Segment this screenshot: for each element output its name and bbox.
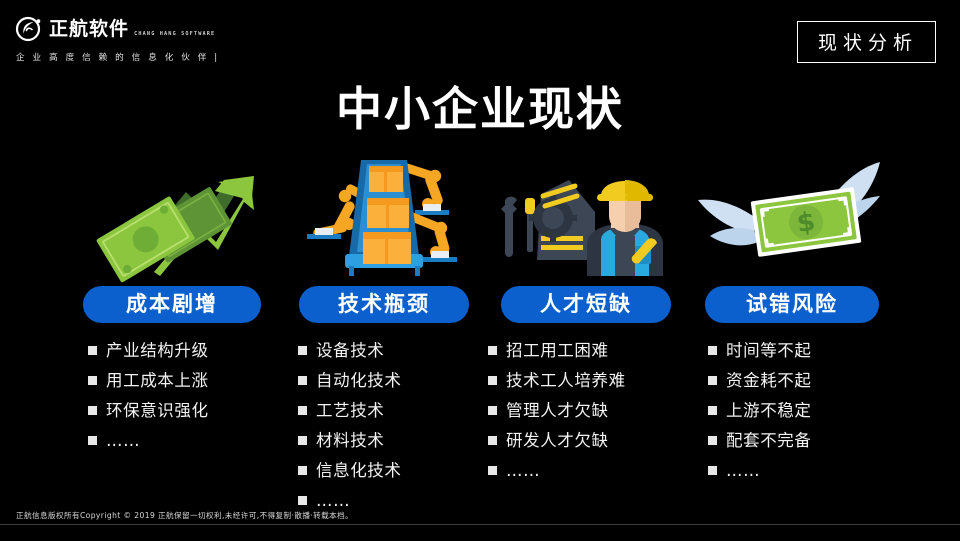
bullet-square-icon (88, 436, 97, 445)
list-item: 材料技术 (298, 429, 490, 453)
page-title: 中小企业现状 (0, 84, 960, 135)
list-item: 自动化技术 (298, 369, 490, 393)
bullet-square-icon (708, 406, 717, 415)
topic-pill-technology[interactable]: 技术瓶颈 (299, 286, 469, 323)
list-item: 用工成本上涨 (88, 369, 278, 393)
worker-tools-gear-icon (480, 160, 692, 276)
list-item: …… (488, 459, 692, 483)
list-item: 配套不完备 (708, 429, 898, 453)
money-growth-arrow-icon (66, 160, 278, 276)
bullet-square-icon (298, 346, 307, 355)
bullet-square-icon (488, 346, 497, 355)
brand-name-en: CHANG HANG SOFTWARE (134, 31, 215, 37)
footer-copyright: 正航信息版权所有Copyright © 2019 正航保留一切权利,未经许可,不… (16, 510, 353, 521)
list-item: 招工用工困难 (488, 339, 692, 363)
list-item: 设备技术 (298, 339, 490, 363)
chang-hang-c-mark-icon (16, 16, 42, 42)
bullet-list-technology: 设备技术 自动化技术 工艺技术 材料技术 信息化技术 …… (278, 339, 490, 513)
brand-logo: 正航软件 CHANG HANG SOFTWARE 企 业 高 度 信 赖 的 信… (16, 16, 216, 63)
list-item: 信息化技术 (298, 459, 490, 483)
section-badge-label: 现状分析 (815, 28, 918, 55)
topic-column-talent: 人才短缺 招工用工困难 技术工人培养难 管理人才欠缺 研发人才欠缺 …… (480, 160, 692, 489)
bullet-list-risk: 时间等不起 资金耗不起 上游不稳定 配套不完备 …… (686, 339, 898, 483)
topic-column-cost: 成本剧增 产业结构升级 用工成本上涨 环保意识强化 …… (66, 160, 278, 459)
bullet-square-icon (88, 406, 97, 415)
bullet-square-icon (88, 376, 97, 385)
bullet-list-cost: 产业结构升级 用工成本上涨 环保意识强化 …… (66, 339, 278, 453)
topic-pill-talent[interactable]: 人才短缺 (501, 286, 671, 323)
topic-columns: 成本剧增 产业结构升级 用工成本上涨 环保意识强化 …… (0, 160, 960, 500)
topic-pill-cost[interactable]: 成本剧增 (83, 286, 261, 323)
bullet-square-icon (298, 376, 307, 385)
list-item: …… (298, 489, 490, 513)
list-item: …… (88, 429, 278, 453)
topic-column-risk: $ 试错风险 时间等不起 资金耗不起 上游不稳定 配套不完备 …… (686, 160, 898, 489)
bullet-square-icon (488, 406, 497, 415)
bullet-square-icon (298, 496, 307, 505)
bullet-square-icon (708, 436, 717, 445)
bullet-square-icon (298, 466, 307, 475)
topic-column-technology: 技术瓶颈 设备技术 自动化技术 工艺技术 材料技术 信息化技术 …… (278, 160, 490, 519)
list-item: 研发人才欠缺 (488, 429, 692, 453)
section-badge: 现状分析 (797, 21, 936, 63)
bullet-list-talent: 招工用工困难 技术工人培养难 管理人才欠缺 研发人才欠缺 …… (480, 339, 692, 483)
topic-pill-risk[interactable]: 试错风险 (705, 286, 879, 323)
bullet-square-icon (88, 346, 97, 355)
list-item: 工艺技术 (298, 399, 490, 423)
brand-name: 正航软件 (49, 18, 129, 40)
bullet-square-icon (488, 466, 497, 475)
slide-canvas: 正航软件 CHANG HANG SOFTWARE 企 业 高 度 信 赖 的 信… (0, 0, 960, 541)
winged-dollar-bill-icon: $ (686, 160, 898, 276)
bullet-square-icon (708, 466, 717, 475)
bullet-square-icon (708, 376, 717, 385)
bullet-square-icon (488, 436, 497, 445)
list-item: 产业结构升级 (88, 339, 278, 363)
list-item: 管理人才欠缺 (488, 399, 692, 423)
bullet-square-icon (488, 376, 497, 385)
list-item: 上游不稳定 (708, 399, 898, 423)
conveyor-robot-arm-icon (278, 160, 490, 276)
list-item: 时间等不起 (708, 339, 898, 363)
list-item: 资金耗不起 (708, 369, 898, 393)
list-item: 技术工人培养难 (488, 369, 692, 393)
brand-tagline: 企 业 高 度 信 赖 的 信 息 化 伙 伴 | (16, 51, 216, 63)
footer-divider (0, 524, 960, 525)
bullet-square-icon (298, 406, 307, 415)
bullet-square-icon (708, 346, 717, 355)
list-item: …… (708, 459, 898, 483)
list-item: 环保意识强化 (88, 399, 278, 423)
bullet-square-icon (298, 436, 307, 445)
